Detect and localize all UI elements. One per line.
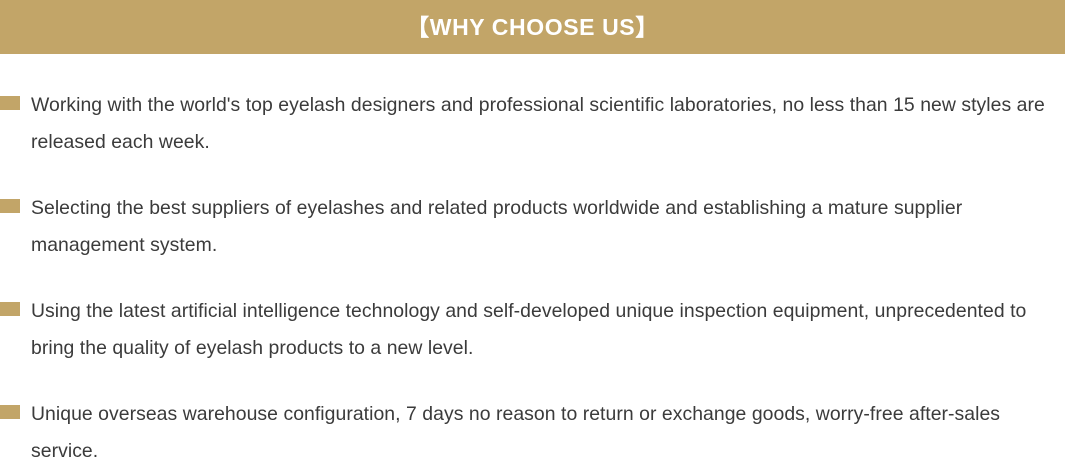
list-item: Unique overseas warehouse configuration,…: [0, 396, 1065, 470]
gold-square-bullet-icon: [0, 199, 20, 213]
section-header-band: 【WHY CHOOSE US】: [0, 0, 1065, 54]
feature-text: Unique overseas warehouse configuration,…: [31, 396, 1057, 470]
feature-text: Selecting the best suppliers of eyelashe…: [31, 190, 1057, 264]
feature-text: Using the latest artificial intelligence…: [31, 293, 1057, 367]
page-title: 【WHY CHOOSE US】: [406, 16, 659, 39]
list-item: Working with the world's top eyelash des…: [0, 87, 1065, 161]
gold-square-bullet-icon: [0, 302, 20, 316]
list-item: Using the latest artificial intelligence…: [0, 293, 1065, 367]
list-item: Selecting the best suppliers of eyelashe…: [0, 190, 1065, 264]
feature-text: Working with the world's top eyelash des…: [31, 87, 1057, 161]
gold-square-bullet-icon: [0, 405, 20, 419]
why-choose-us-section: 【WHY CHOOSE US】 Working with the world's…: [0, 0, 1065, 463]
gold-square-bullet-icon: [0, 96, 20, 110]
feature-list: Working with the world's top eyelash des…: [0, 54, 1065, 470]
